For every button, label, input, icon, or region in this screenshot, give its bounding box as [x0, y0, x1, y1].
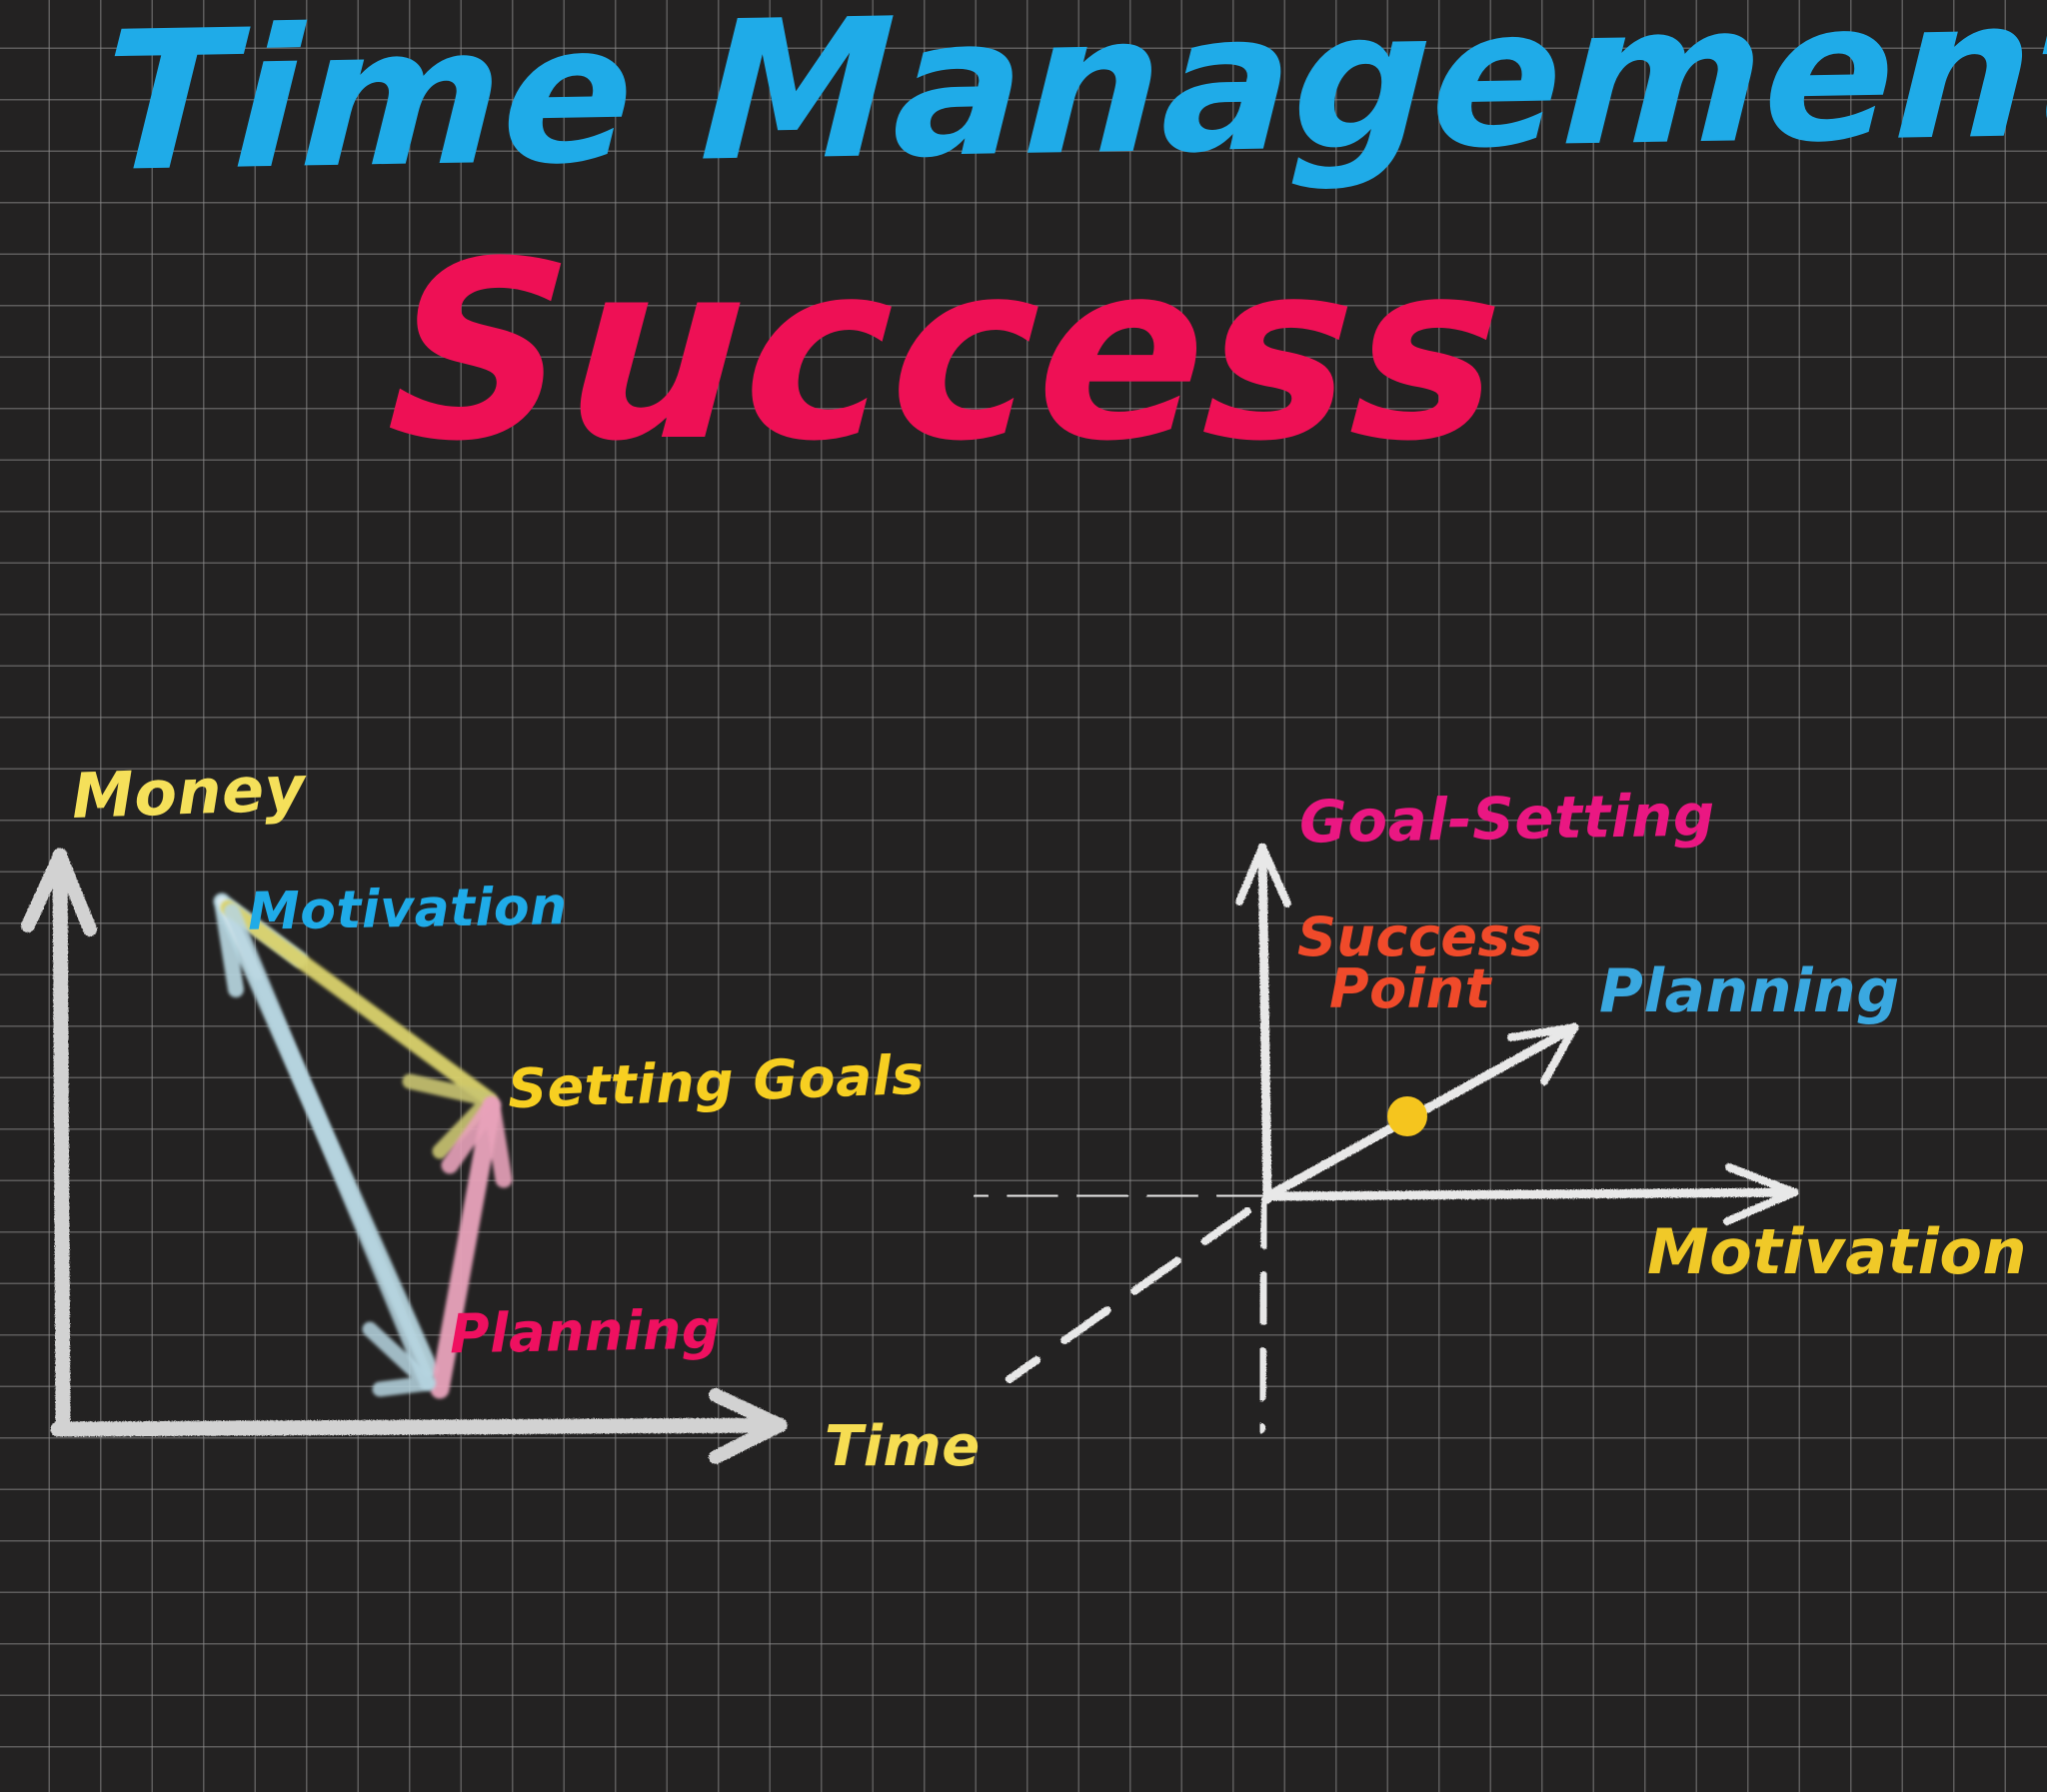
left-vector-setting-goals	[228, 907, 490, 1151]
left-chart-y-axis-label: Money	[71, 758, 306, 828]
right-chart-success-point-marker	[1387, 1096, 1427, 1136]
left-chart-vector-label-motivation: Motivation	[248, 881, 568, 938]
left-chart-y-axis	[28, 856, 90, 1427]
right-chart-planning-vector	[1269, 1027, 1574, 1195]
right-chart-point-label-line2: Point	[1329, 963, 1543, 1015]
left-chart-vector-label-planning: Planning	[450, 1303, 722, 1362]
left-vector-motivation-branch	[232, 911, 428, 1389]
right-chart-x-axis-dashed	[978, 1195, 1264, 1196]
right-chart-y-axis	[1239, 848, 1287, 1199]
whiteboard-canvas: Time Management Success	[0, 0, 2047, 1792]
right-chart-point-label: SuccessPoint	[1297, 911, 1543, 1016]
page-title-line2: Success	[383, 230, 1510, 476]
right-chart-diagonal-label: Planning	[1599, 961, 1900, 1021]
left-chart-vector-label-setting-goals: Setting Goals	[507, 1048, 925, 1117]
right-chart-x-axis	[1267, 1167, 1794, 1221]
right-chart-x-axis-label: Motivation	[1647, 1221, 2027, 1283]
left-chart-x-axis	[58, 1395, 780, 1457]
right-chart-y-axis-dashed	[1261, 1199, 1265, 1429]
right-chart-y-axis-label: Goal-Setting	[1299, 786, 1716, 851]
page-title-line1: Time Management	[98, 0, 2047, 200]
left-vector-motivation	[222, 901, 430, 1369]
left-chart-x-axis-label: Time	[825, 1419, 981, 1475]
right-chart-diagonal-dashed	[1010, 1211, 1247, 1379]
